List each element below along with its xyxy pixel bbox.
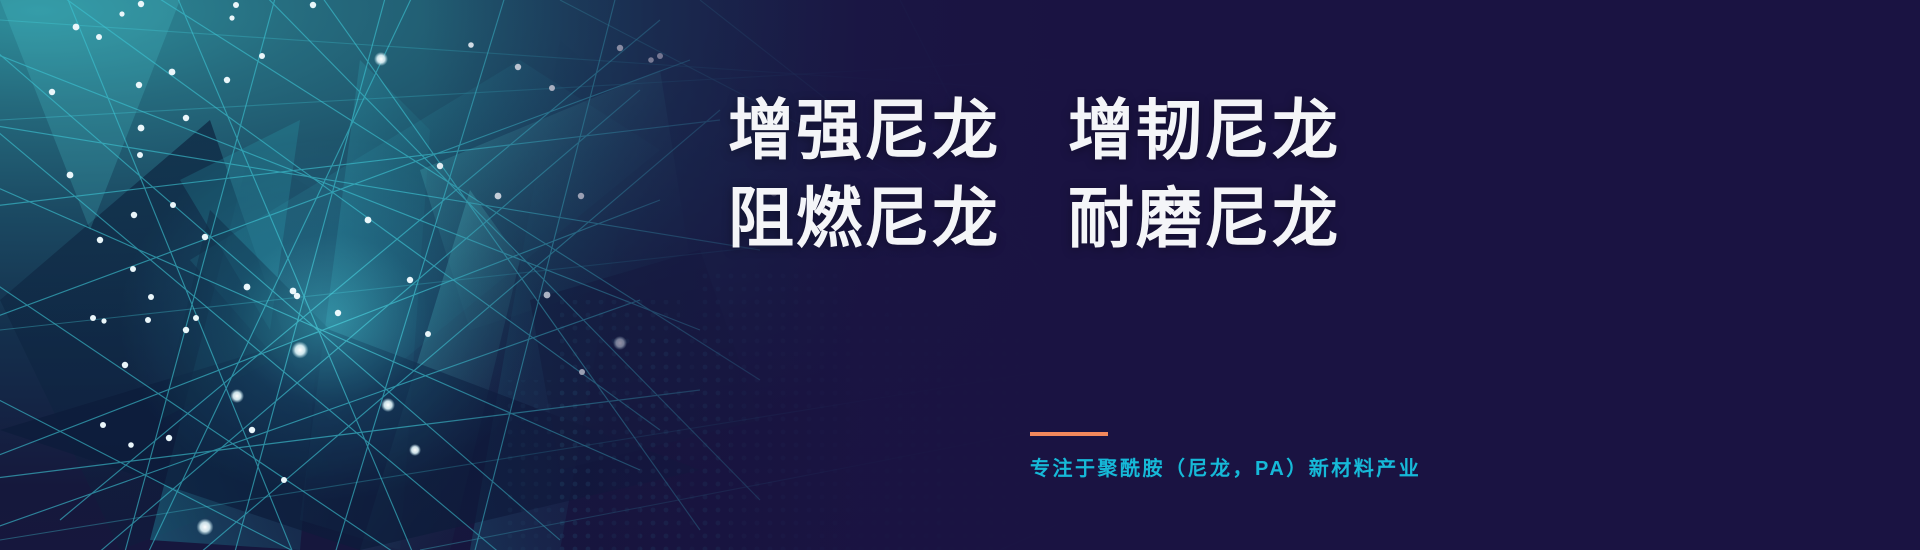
tagline-block: 专注于聚酰胺（尼龙，PA）新材料产业 xyxy=(1030,432,1650,481)
accent-divider xyxy=(1030,432,1108,436)
headline-line-2: 阻燃尼龙 耐磨尼龙 xyxy=(728,174,1628,262)
tagline-text: 专注于聚酰胺（尼龙，PA）新材料产业 xyxy=(1030,452,1650,481)
hero-text-block: 增强尼龙 增韧尼龙 阻燃尼龙 耐磨尼龙 xyxy=(728,86,1628,262)
headline-line-1: 增强尼龙 增韧尼龙 xyxy=(728,86,1628,174)
hero-banner: 增强尼龙 增韧尼龙 阻燃尼龙 耐磨尼龙 专注于聚酰胺（尼龙，PA）新材料产业 xyxy=(0,0,1920,550)
